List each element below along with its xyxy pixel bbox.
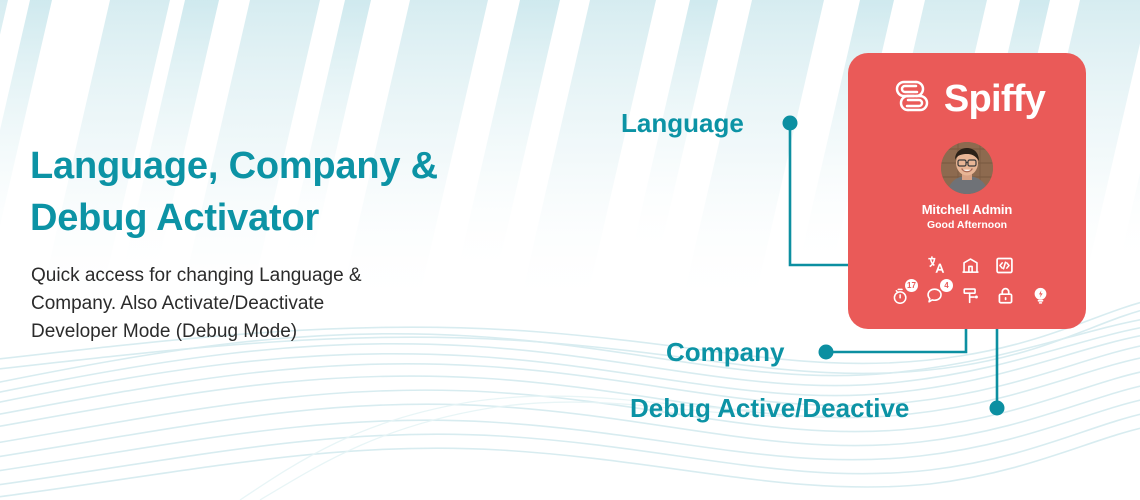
- connector-dot-company: [819, 345, 834, 360]
- company-switcher-icon[interactable]: [960, 255, 980, 275]
- messages-icon[interactable]: 4: [925, 285, 945, 305]
- quick-switcher-icon-row: [926, 255, 1014, 275]
- tips-icon[interactable]: [1030, 285, 1050, 305]
- page-description-line-2: Company. Also Activate/Deactivate: [31, 290, 501, 318]
- connector-dot-debug: [990, 401, 1005, 416]
- page-description: Quick access for changing Language & Com…: [31, 262, 501, 346]
- activities-badge: 17: [905, 279, 918, 292]
- page-description-line-3: Developer Mode (Debug Mode): [31, 318, 501, 346]
- avatar[interactable]: [941, 142, 993, 194]
- activities-icon[interactable]: 17: [890, 285, 910, 305]
- page-title: Language, Company & Debug Activator: [30, 140, 550, 245]
- promo-banner: Language, Company & Debug Activator Quic…: [0, 0, 1140, 500]
- callout-label-debug: Debug Active/Deactive: [630, 393, 909, 424]
- brand-row: Spiffy: [848, 73, 1086, 124]
- lock-icon[interactable]: [995, 285, 1015, 305]
- brand-name: Spiffy: [944, 80, 1045, 118]
- callout-label-language: Language: [621, 108, 744, 139]
- settings-icon[interactable]: [960, 285, 980, 305]
- connector-dot-language: [783, 116, 798, 131]
- user-greeting: Good Afternoon: [848, 219, 1086, 231]
- page-title-line-2: Debug Activator: [30, 192, 550, 244]
- debug-activator-icon[interactable]: [994, 255, 1014, 275]
- language-switcher-icon[interactable]: [926, 255, 946, 275]
- status-icon-row: 17 4: [890, 285, 1050, 305]
- spiffy-paperclip-s-logo-icon: [889, 73, 935, 124]
- messages-badge: 4: [940, 279, 953, 292]
- user-name: Mitchell Admin: [848, 202, 1086, 217]
- page-title-line-1: Language, Company &: [30, 140, 550, 192]
- page-description-line-1: Quick access for changing Language &: [31, 262, 501, 290]
- app-user-menu-card: Spiffy: [848, 53, 1086, 329]
- callout-label-company: Company: [666, 337, 784, 368]
